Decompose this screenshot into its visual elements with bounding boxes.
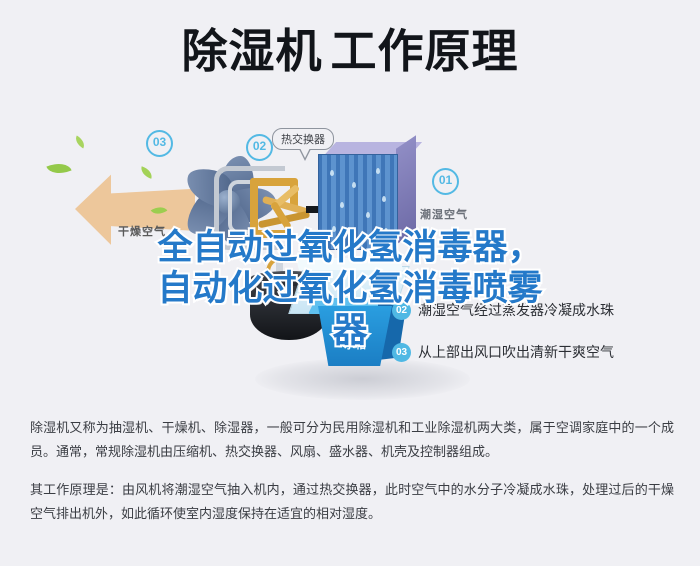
leaf-icon (139, 166, 154, 179)
watermark-overlay-text: 全自动过氧化氢消毒器， 自动化过氧化氢消毒喷雾 器 (0, 228, 700, 352)
marker-01: 01 (432, 168, 459, 195)
body-paragraph-2: 其工作原理是：由风机将潮湿空气抽入机内，通过热交换器，此时空气中的水分子冷凝成水… (30, 478, 674, 526)
title-sub: 工作原理 (323, 24, 519, 78)
title-line: 除湿机工作原理 (0, 28, 700, 74)
watermark-line-2: 自动化过氧化氢消毒喷雾 (0, 269, 700, 310)
marker-03: 03 (146, 130, 173, 157)
title-main: 除湿机 (182, 24, 323, 78)
page-root: 除湿机工作原理 干燥空气 (0, 0, 700, 566)
body-copy: 除湿机又称为抽湿机、干燥机、除湿器，一般可分为民用除湿机和工业除湿机两大类，属于… (30, 416, 674, 540)
watermark-line-3: 器 (0, 311, 700, 352)
watermark-line-1: 全自动过氧化氢消毒器， (0, 228, 700, 269)
page-title: 除湿机工作原理 (0, 28, 700, 74)
heat-exchanger-callout: 热交换器 (272, 128, 334, 150)
body-paragraph-1: 除湿机又称为抽湿机、干燥机、除湿器，一般可分为民用除湿机和工业除湿机两大类，属于… (30, 416, 674, 464)
wet-air-label: 潮湿空气 (420, 206, 468, 222)
leaf-icon (73, 136, 87, 149)
marker-02: 02 (246, 134, 273, 161)
leaf-icon (46, 158, 71, 178)
